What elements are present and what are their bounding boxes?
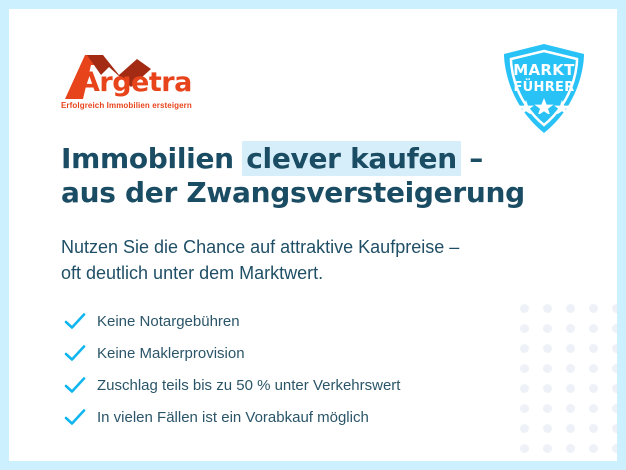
list-item-label: In vielen Fällen ist ein Vorabkauf mögli… [97,410,369,425]
decoration-dot [612,424,617,433]
check-icon [63,407,87,427]
list-item-label: Keine Maklerprovision [97,346,245,361]
decoration-dot [543,384,552,393]
decoration-dot [566,384,575,393]
headline-line-1: Immobilien clever kaufen – [61,142,531,176]
decoration-dot [543,404,552,413]
decoration-dot [612,344,617,353]
check-icon [63,375,87,395]
decoration-dot [589,424,598,433]
decoration-dot [566,304,575,313]
decoration-dot [520,424,529,433]
decoration-dot [543,304,552,313]
decoration-dot [589,364,598,373]
subtitle-line-2: oft deutlich unter dem Marktwert. [61,260,531,286]
decoration-dot [520,404,529,413]
list-item: In vielen Fällen ist ein Vorabkauf mögli… [63,401,513,433]
argetra-tagline: Erfolgreich Immobilien ersteigern [61,101,192,110]
list-item: Keine Notargebühren [63,305,513,337]
decoration-dot [612,384,617,393]
badge-stars [498,98,590,119]
decoration-dot [589,324,598,333]
decoration-dot [543,444,552,453]
poster-card: Argetra Erfolgreich Immobilien ersteiger… [9,9,617,461]
decoration-dot [543,344,552,353]
check-icon [63,311,87,331]
decoration-dot [589,304,598,313]
list-item: Keine Maklerprovision [63,337,513,369]
decoration-dot [543,424,552,433]
dot-grid-decoration [520,304,617,461]
decoration-dot [520,384,529,393]
decoration-dot [612,364,617,373]
benefits-list: Keine Notargebühren Keine Maklerprovisio… [63,305,513,433]
headline-prefix: Immobilien [61,142,243,175]
badge-line-2: FÜHRER [498,81,590,94]
argetra-logo: Argetra Erfolgreich Immobilien ersteiger… [61,53,211,115]
page-title: Immobilien clever kaufen – aus der Zwang… [61,142,531,210]
decoration-dot [612,444,617,453]
decoration-dot [520,324,529,333]
decoration-dot [520,344,529,353]
decoration-dot [566,364,575,373]
decoration-dot [589,384,598,393]
decoration-dot [566,344,575,353]
decoration-dot [543,324,552,333]
headline-suffix: – [460,142,483,175]
decoration-dot [589,344,598,353]
argetra-wordmark: Argetra [79,69,192,96]
decoration-dot [566,444,575,453]
decoration-dot [612,404,617,413]
headline-highlight: clever kaufen [242,141,461,176]
decoration-dot [566,404,575,413]
badge-line-1: MARKT [498,63,590,78]
decoration-dot [612,304,617,313]
decoration-dot [520,444,529,453]
decoration-dot [566,324,575,333]
star-icon-group [516,98,572,114]
subtitle-line-1: Nutzen Sie die Chance auf attraktive Kau… [61,234,531,260]
list-item-label: Keine Notargebühren [97,314,240,329]
page-subtitle: Nutzen Sie die Chance auf attraktive Kau… [61,234,531,286]
decoration-dot [566,424,575,433]
decoration-dot [543,364,552,373]
list-item: Zuschlag teils bis zu 50 % unter Verkehr… [63,369,513,401]
list-item-label: Zuschlag teils bis zu 50 % unter Verkehr… [97,378,400,393]
decoration-dot [612,324,617,333]
check-icon [63,343,87,363]
decoration-dot [589,444,598,453]
decoration-dot [589,404,598,413]
decoration-dot [520,364,529,373]
decoration-dot [520,304,529,313]
markt-fuehrer-badge: MARKT FÜHRER [498,42,590,135]
headline-line-2: aus der Zwangsversteigerung [61,176,531,210]
promo-poster: Argetra Erfolgreich Immobilien ersteiger… [0,0,626,470]
